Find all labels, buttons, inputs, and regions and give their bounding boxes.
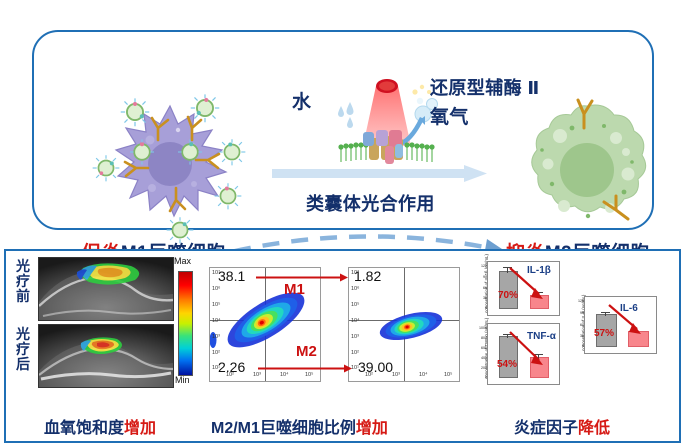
ytick: 0 xyxy=(477,375,487,379)
oxygen-label: 氧气 xyxy=(430,102,469,129)
ytick: 30 xyxy=(575,334,584,338)
ytick: 120 xyxy=(478,264,487,268)
photosynthesis-caption: 类囊体光合作用 xyxy=(306,190,435,216)
chart-il1b-title: IL-1β xyxy=(527,265,551,276)
chart-il6-reduction: 57% xyxy=(594,328,614,339)
label-after-phototherapy: 光疗后 xyxy=(12,327,34,372)
caption-cytokine-red: 降低 xyxy=(578,420,610,437)
water-droplets-icon xyxy=(338,102,354,128)
label-before-phototherapy: 光疗前 xyxy=(12,259,34,304)
ytick: 800 xyxy=(477,336,487,340)
chart-il1b-reduction: 70% xyxy=(498,290,518,301)
ytick: 0 xyxy=(575,344,584,348)
m2-annotation-arrow-icon xyxy=(258,364,352,373)
flow-value-38-1: 38.1 xyxy=(218,268,245,284)
ytick: 60 xyxy=(575,323,584,327)
ytick: 200 xyxy=(477,366,487,370)
ultrasound-image-after xyxy=(38,324,174,388)
chart-il6-title: IL-6 xyxy=(620,303,638,314)
caption-oxygen-saturation: 血氧饱和度增加 xyxy=(44,414,156,438)
ytick: 90 xyxy=(575,311,584,315)
flow-value-39-00: 39.00 xyxy=(358,359,393,375)
ytick: 400 xyxy=(477,356,487,360)
chart-tnfa-reduction: 54% xyxy=(497,359,517,370)
photoacoustic-colorbar xyxy=(178,271,193,376)
conversion-arrow-icon xyxy=(272,165,487,182)
colorbar-max-label: Max xyxy=(174,256,191,266)
colorbar-min-label: Min xyxy=(175,375,190,385)
ytick: 60 xyxy=(478,286,487,290)
flow-value-2-26: 2.26 xyxy=(218,359,245,375)
ytick: 120 xyxy=(575,299,584,303)
ytick: 1000 xyxy=(477,326,487,330)
caption-oxygen-blue: 血氧饱和度 xyxy=(44,420,124,437)
ultrasound-image-before xyxy=(38,257,174,321)
caption-m2-m1-ratio: M2/M1巨噬细胞比例增加 xyxy=(211,414,388,438)
ytick: 90 xyxy=(478,275,487,279)
flow-value-1-82: 1.82 xyxy=(354,268,381,284)
caption-cytokine-blue: 炎症因子 xyxy=(514,420,578,437)
caption-cytokine: 炎症因子降低 xyxy=(514,414,610,438)
flow-tag-m1: M1 xyxy=(284,281,305,298)
membrane-bilayer xyxy=(338,130,434,164)
ytick: 600 xyxy=(477,346,487,350)
bottom-panel-results: 光疗前 光疗后 xyxy=(4,249,681,443)
m2-macrophage-illustration xyxy=(512,92,662,242)
caption-ratio-red: 增加 xyxy=(356,420,388,437)
top-panel-mechanism: 水 还原型辅酶 Ⅱ 氧气 类囊体光合作用 促炎M1巨噬细胞 抑炎M2巨噬细胞 xyxy=(32,30,654,230)
water-label: 水 xyxy=(292,87,311,114)
errorbar xyxy=(605,313,606,316)
ytick: 30 xyxy=(478,296,487,300)
flow-tag-m2: M2 xyxy=(296,343,317,360)
m1-macrophage-illustration xyxy=(80,84,260,244)
chart-tnfa-title: TNF-α xyxy=(527,331,556,342)
ytick: 0 xyxy=(478,306,487,310)
caption-ratio-blue: M2/M1巨噬细胞比例 xyxy=(211,420,356,437)
caption-oxygen-red: 增加 xyxy=(124,420,156,437)
